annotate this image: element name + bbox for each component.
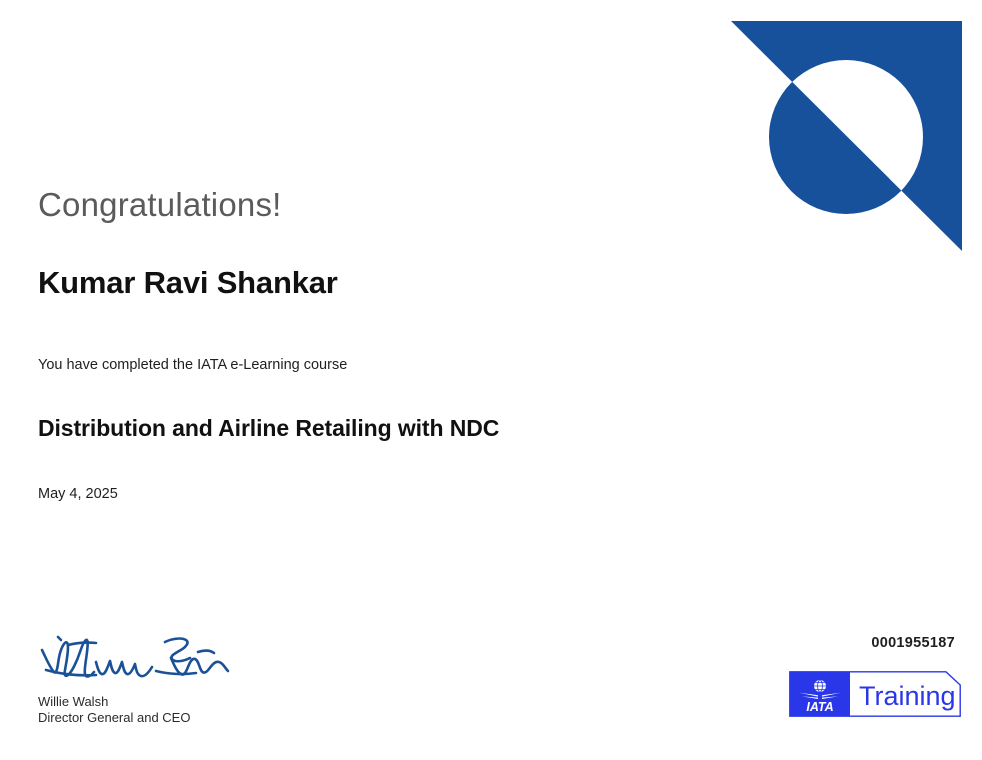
certificate-page: Congratulations! Kumar Ravi Shankar You … — [0, 0, 982, 760]
iata-logo — [700, 0, 982, 270]
badge-training-text: Training — [859, 681, 956, 711]
congratulations-heading: Congratulations! — [38, 186, 282, 224]
course-title: Distribution and Airline Retailing with … — [38, 415, 499, 442]
issue-date: May 4, 2025 — [38, 486, 118, 502]
signature-mark — [38, 628, 238, 690]
completion-statement: You have completed the IATA e-Learning c… — [38, 357, 347, 373]
signature-block: Willie Walsh Director General and CEO — [38, 628, 298, 726]
badge-iata-wordmark: IATA — [806, 700, 833, 714]
certificate-number: 0001955187 — [871, 635, 955, 651]
signer-name: Willie Walsh — [38, 694, 298, 710]
recipient-name: Kumar Ravi Shankar — [38, 265, 338, 301]
signer-title: Director General and CEO — [38, 710, 298, 726]
iata-training-badge: IATA Training — [789, 671, 961, 717]
